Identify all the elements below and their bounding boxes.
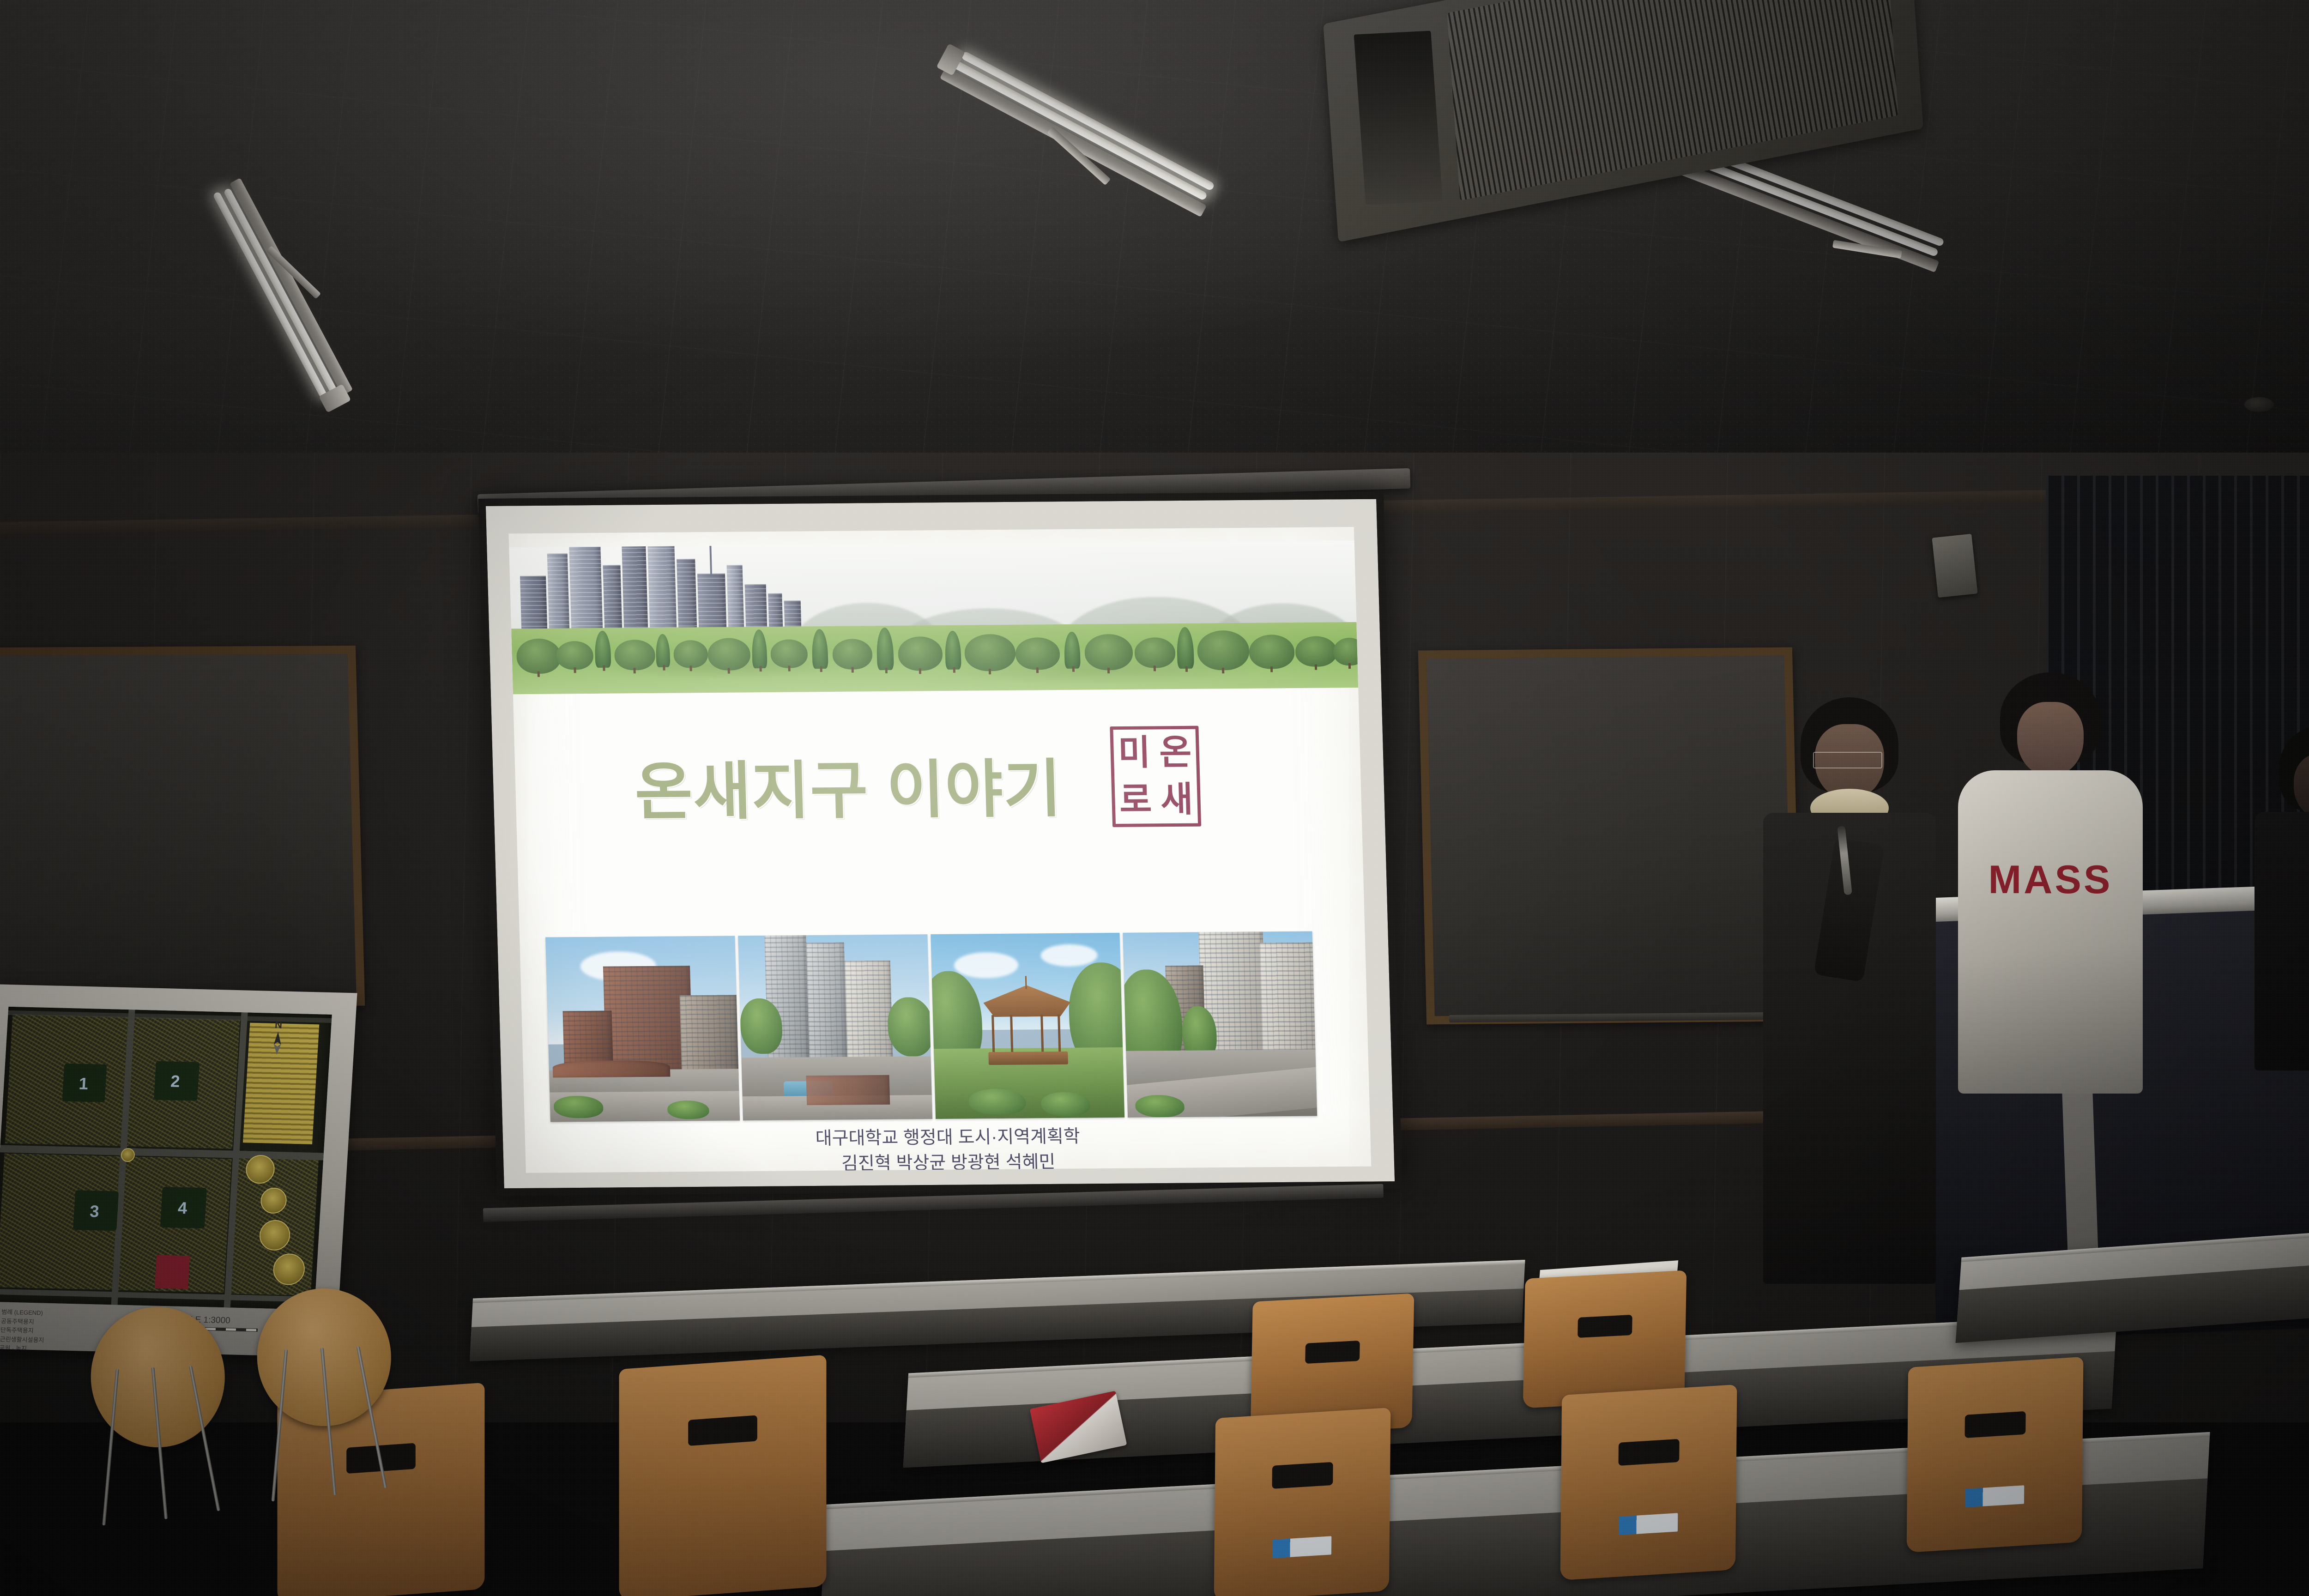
seal-char-on: 온 [1154, 729, 1197, 777]
skyline-tower [520, 576, 547, 635]
district-number: 2 [170, 1071, 181, 1091]
chair[interactable] [619, 1355, 827, 1596]
north-arrow-icon [266, 1031, 288, 1056]
whiteboard-tray [1449, 1012, 1778, 1022]
plan-special-use [155, 1255, 190, 1289]
chair-asset-sticker [1619, 1513, 1678, 1535]
slide-credits: 대구대학교 행정대 도시·지역계획학 김진혁 박상균 방광현 석혜민 [525, 1122, 1371, 1173]
chair-handle-slot [1272, 1462, 1333, 1489]
district-number: 1 [79, 1074, 89, 1094]
hoodie-text: MASS [1988, 857, 2112, 903]
chair-handle-slot [1618, 1439, 1679, 1466]
plan-green-district-1: 1 [62, 1064, 107, 1102]
district-number: 4 [177, 1198, 188, 1218]
skyline-tower [568, 541, 603, 635]
banner-tree [898, 636, 943, 671]
presentation-slide[interactable]: 온새지구 이야기 온 새 미 로 [508, 527, 1371, 1173]
skyline-tower [622, 544, 648, 634]
chair-handle-slot [1305, 1341, 1360, 1364]
north-arrow: N [263, 1018, 293, 1058]
skyline-tower [677, 559, 697, 634]
glasses-icon [1813, 752, 1882, 768]
seal-char-mi: 미 [1113, 729, 1155, 777]
banner-tree [964, 634, 1016, 671]
plan-green-district-3: 3 [73, 1190, 119, 1231]
banner-tree [832, 639, 873, 670]
skyline-tower [697, 574, 727, 634]
lecture-hall-scene: 온새지구 이야기 온 새 미 로 [0, 0, 2309, 1596]
onsaemiro-seal: 온 새 미 로 [1110, 726, 1201, 827]
banner-tree [1249, 635, 1295, 669]
shadow-person-coat [2255, 812, 2309, 1070]
seal-char-sae: 새 [1155, 776, 1198, 824]
slide-photo-strip [545, 931, 1317, 1122]
chair[interactable] [1560, 1384, 1737, 1580]
banner-tree [1134, 637, 1176, 668]
plan-green-district-2: 2 [154, 1061, 199, 1101]
district-number: 3 [89, 1202, 100, 1221]
projector-screen-assembly: 온새지구 이야기 온 새 미 로 [471, 462, 1469, 1238]
banner-tree [707, 638, 751, 671]
chair-backrest [1907, 1357, 2084, 1553]
banner-tree [614, 640, 656, 671]
banner-tree [1084, 634, 1133, 671]
skyline-tower [727, 565, 744, 633]
chair[interactable] [1523, 1270, 1686, 1409]
banner-tree [556, 641, 594, 670]
chair-backrest [1214, 1408, 1391, 1596]
stool[interactable] [89, 1305, 230, 1536]
student-in-hoodie: MASS [1953, 672, 2147, 1088]
seal-char-ro: 로 [1114, 776, 1157, 824]
banner-tree [770, 639, 808, 668]
chair-asset-sticker [1272, 1536, 1331, 1558]
banner-tree [516, 639, 562, 674]
stool[interactable] [255, 1286, 397, 1512]
banner-tree [1197, 630, 1250, 671]
slide-banner-image [509, 541, 1358, 694]
chair-backrest [1560, 1384, 1737, 1580]
hoodie [1958, 770, 2143, 1094]
photo-pedestrian-bridge [545, 936, 740, 1122]
chair-asset-sticker [1965, 1485, 2024, 1507]
plan-green-district-4: 4 [160, 1187, 207, 1228]
whiteboard-left[interactable] [0, 646, 365, 1008]
chair-backrest [619, 1355, 827, 1596]
north-label: N [275, 1019, 283, 1030]
chair-backrest [1523, 1270, 1686, 1409]
skyline-tower [547, 553, 570, 635]
smoke-detector [2244, 397, 2274, 412]
person-in-shadow [2254, 725, 2309, 1076]
chair[interactable] [1214, 1408, 1391, 1596]
chair-handle-slot [1964, 1411, 2025, 1438]
skyline-tower [603, 565, 622, 635]
whiteboard-right[interactable] [1418, 647, 1801, 1025]
slide-title: 온새지구 이야기 [634, 738, 1063, 832]
skyline-tower [647, 541, 677, 634]
banner-tree [1015, 637, 1060, 670]
banner-tree [1295, 636, 1337, 667]
photo-wooden-pavilion [931, 933, 1125, 1119]
chair-handle-slot [688, 1415, 757, 1446]
chair-handle-slot [1578, 1315, 1632, 1338]
projection-screen[interactable]: 온새지구 이야기 온 새 미 로 [478, 492, 1402, 1196]
chair[interactable] [1907, 1357, 2084, 1553]
presenter-with-microphone [1750, 697, 1949, 1288]
photo-apartment-plaza [738, 934, 932, 1120]
photo-residential-street [1123, 931, 1318, 1118]
ac-louver [1354, 31, 1442, 205]
wall-speaker [1932, 534, 1977, 598]
banner-tree [673, 640, 708, 668]
student-face [2017, 702, 2084, 777]
skyline-tower [745, 584, 768, 633]
